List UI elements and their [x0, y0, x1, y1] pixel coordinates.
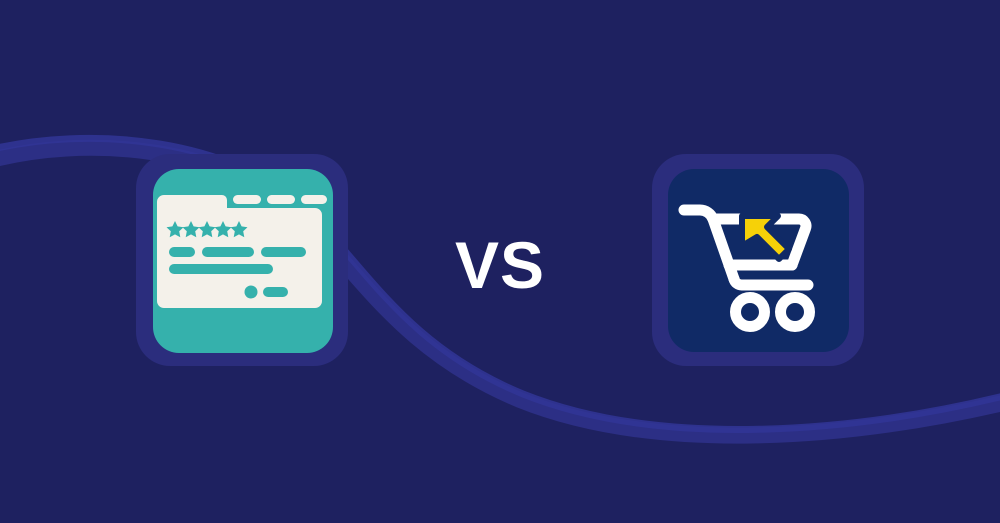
vs-comparison-banner: VS: [0, 0, 1000, 523]
right-app-tile[interactable]: [668, 169, 849, 352]
tab-pill-3: [301, 195, 327, 204]
cart-bottom-rail: [734, 279, 808, 285]
cart-wheel-left: [736, 298, 765, 327]
shopping-cart-cursor-icon: [668, 169, 849, 352]
tab-pill-2: [267, 195, 295, 204]
cart-wheel-right: [781, 298, 810, 327]
tab-pill-1: [233, 195, 261, 204]
